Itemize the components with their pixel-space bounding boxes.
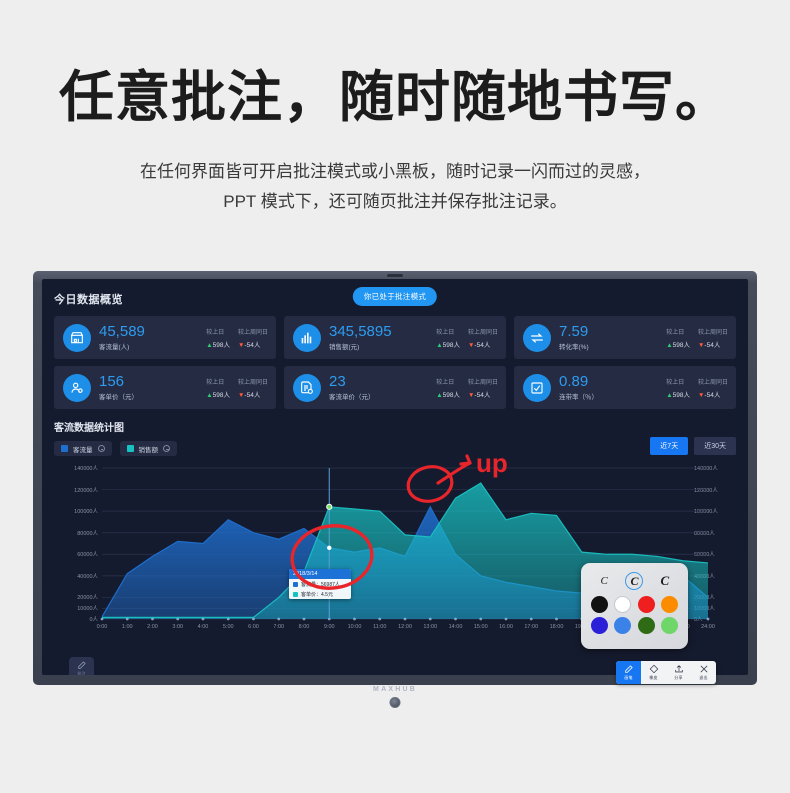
delta-up-value: ▲598人	[666, 389, 690, 399]
stat-label: 客单价（元）	[99, 391, 138, 401]
x-tick-4: 4:00	[198, 624, 209, 630]
delta-down-value: ▼-54人	[238, 389, 268, 399]
legend-item-sales[interactable]: 销售额	[120, 441, 178, 456]
x-tick-15: 15:00	[474, 624, 488, 630]
delta-vs-lastweek: 较上周同日 ▼-54人	[468, 327, 498, 349]
stat-value: 156	[99, 374, 138, 390]
chart-legend: 客流量 销售额	[54, 441, 736, 456]
delta-down-value: ▼-54人	[468, 389, 498, 399]
stat-card[interactable]: 0.89 连带率（％） 较上日 ▲598人 较上周同日 ▼-54人	[514, 366, 736, 409]
color-picker-panel[interactable]: C C C	[581, 563, 688, 649]
x-tick-2: 2:00	[147, 624, 158, 630]
user-badge-icon	[63, 374, 91, 402]
delta-head: 较上日	[206, 327, 230, 336]
pen-size-medium[interactable]: C	[625, 572, 643, 590]
stat-deltas: 较上日 ▲598人 较上周同日 ▼-54人	[430, 327, 498, 349]
tool-eraser-label: 橡皮	[649, 675, 657, 681]
exchange-icon	[523, 324, 551, 352]
legend-swatch	[127, 445, 134, 452]
annotation-toolbar: 画笔 橡皮 分享 退出	[616, 661, 716, 684]
stat-deltas: 较上日 ▲598人 较上周同日 ▼-54人	[660, 377, 728, 399]
stat-label: 销售额(元)	[329, 341, 392, 351]
delta-head: 较上日	[666, 377, 690, 386]
stat-label: 连带率（％）	[559, 391, 598, 401]
eye-icon[interactable]	[98, 445, 105, 452]
delta-head: 较上日	[206, 377, 230, 386]
color-swatch-3[interactable]	[661, 596, 678, 613]
stat-card[interactable]: 345,5895 销售额(元) 较上日 ▲598人 较上周同日 ▼-54人	[284, 316, 506, 359]
stat-value: 45,589	[99, 324, 145, 340]
color-swatch-grid	[589, 596, 680, 634]
store-chart-icon	[63, 324, 91, 352]
x-tick-16: 16:00	[499, 624, 513, 630]
pen-icon	[624, 664, 634, 674]
range-button-30d[interactable]: 近30天	[694, 437, 736, 455]
stat-deltas: 较上日 ▲598人 较上周同日 ▼-54人	[200, 327, 268, 349]
hero-subcopy-line-2: PPT 模式下，还可随页批注并保存批注记录。	[0, 187, 790, 217]
tool-share-label: 分享	[674, 675, 682, 681]
delta-vs-lastweek: 较上周同日 ▼-54人	[238, 377, 268, 399]
tool-close-label: 退出	[699, 675, 707, 681]
x-tick-17: 17:00	[524, 624, 538, 630]
delta-value-text: -54人	[244, 392, 260, 399]
pen-size-thin[interactable]: C	[595, 572, 613, 590]
delta-up-value: ▲598人	[436, 389, 460, 399]
tooltip-text: 客流量：56987人	[301, 581, 340, 588]
delta-vs-yesterday: 较上日 ▲598人	[206, 377, 230, 399]
legend-label: 客流量	[73, 444, 93, 454]
x-tick-9: 9:00	[324, 624, 335, 630]
stat-card[interactable]: 7.59 转化率(%) 较上日 ▲598人 较上周同日 ▼-54人	[514, 316, 736, 359]
delta-up-value: ▲598人	[436, 339, 460, 349]
legend-label: 销售额	[139, 444, 159, 454]
delta-down-value: ▼-54人	[698, 389, 728, 399]
tool-share[interactable]: 分享	[666, 661, 691, 684]
stat-card-grid: 45,589 客流量(人) 较上日 ▲598人 较上周同日 ▼-54人	[54, 316, 736, 409]
delta-vs-yesterday: 较上日 ▲598人	[666, 327, 690, 349]
stat-label: 客流量(人)	[99, 341, 145, 351]
chart-tooltip: 2018/3/14 客流量：56987人 客单价：4.5元	[289, 569, 351, 599]
check-square-icon	[523, 374, 551, 402]
pen-size-row: C C C	[589, 570, 680, 592]
tooltip-row: 客流量：56987人	[289, 579, 351, 589]
color-swatch-6[interactable]	[638, 617, 655, 634]
x-tick-24: 24:00	[701, 624, 715, 630]
color-swatch-5[interactable]	[614, 617, 631, 634]
delta-vs-lastweek: 较上周同日 ▼-54人	[698, 327, 728, 349]
x-tick-12: 12:00	[398, 624, 412, 630]
x-tick-7: 7:00	[273, 624, 284, 630]
delta-value-text: -54人	[474, 342, 490, 349]
delta-value-text: 598人	[213, 342, 230, 349]
x-tick-0: 0:00	[97, 624, 108, 630]
delta-value-text: -54人	[704, 392, 720, 399]
eye-icon[interactable]	[163, 445, 170, 452]
x-tick-14: 14:00	[449, 624, 463, 630]
delta-vs-yesterday: 较上日 ▲598人	[206, 327, 230, 349]
delta-value-text: 598人	[443, 342, 460, 349]
x-tick-3: 3:00	[172, 624, 183, 630]
stat-deltas: 较上日 ▲598人 较上周同日 ▼-54人	[200, 377, 268, 399]
delta-vs-yesterday: 较上日 ▲598人	[666, 377, 690, 399]
delta-head: 较上周同日	[238, 377, 268, 386]
delta-head: 较上周同日	[238, 327, 268, 336]
delta-down-value: ▼-54人	[238, 339, 268, 349]
document-icon	[293, 374, 321, 402]
delta-head: 较上周同日	[698, 327, 728, 336]
delta-vs-yesterday: 较上日 ▲598人	[436, 377, 460, 399]
delta-up-value: ▲598人	[206, 339, 230, 349]
pen-size-thick[interactable]: C	[656, 572, 674, 590]
color-swatch-7[interactable]	[661, 617, 678, 634]
tool-eraser[interactable]: 橡皮	[641, 661, 666, 684]
hero-section: 任意批注，随时随地书写。 在任何界面皆可开启批注模式或小黑板，随时记录一闪而过的…	[0, 0, 790, 217]
tooltip-date: 2018/3/14	[289, 569, 351, 579]
delta-head: 较上周同日	[468, 327, 498, 336]
hero-subcopy: 在任何界面皆可开启批注模式或小黑板，随时记录一闪而过的灵感， PPT 模式下，还…	[0, 157, 790, 217]
x-tick-11: 11:00	[373, 624, 386, 630]
eraser-icon	[649, 664, 659, 674]
share-icon	[674, 664, 684, 674]
page-title: 任意批注，随时随地书写。	[0, 66, 790, 129]
x-tick-8: 8:00	[299, 624, 310, 630]
tooltip-row: 客单价：4.5元	[289, 589, 351, 599]
delta-value-text: -54人	[474, 392, 490, 399]
delta-value-text: 598人	[213, 392, 230, 399]
brand-logo: MAXHUB	[373, 686, 417, 693]
stat-value: 345,5895	[329, 324, 392, 340]
stat-deltas: 较上日 ▲598人 较上周同日 ▼-54人	[430, 377, 498, 399]
x-tick-13: 13:00	[423, 624, 437, 630]
stat-value: 7.59	[559, 324, 589, 340]
delta-vs-lastweek: 较上周同日 ▼-54人	[468, 377, 498, 399]
color-swatch-1[interactable]	[614, 596, 631, 613]
annotation-mode-badge: 你已处于批注模式	[353, 287, 437, 306]
delta-head: 较上周同日	[468, 377, 498, 386]
x-tick-1: 1:00	[122, 624, 133, 630]
hero-subcopy-line-1: 在任何界面皆可开启批注模式或小黑板，随时记录一闪而过的灵感，	[0, 157, 790, 187]
pen-icon	[77, 660, 87, 670]
close-icon	[699, 664, 709, 674]
stat-label: 客流单价（元）	[329, 391, 375, 401]
floating-annotate-button[interactable]: 批注	[69, 657, 94, 675]
range-button-group: 近7天 近30天	[650, 437, 736, 455]
floating-annotate-label: 批注	[77, 671, 85, 676]
delta-value-text: -54人	[704, 342, 720, 349]
range-button-7d[interactable]: 近7天	[650, 437, 688, 455]
delta-up-value: ▲598人	[206, 389, 230, 399]
delta-value-text: 598人	[673, 342, 690, 349]
stat-card[interactable]: 156 客单价（元） 较上日 ▲598人 较上周同日 ▼-54人	[54, 366, 276, 409]
stat-deltas: 较上日 ▲598人 较上周同日 ▼-54人	[660, 327, 728, 349]
stat-card[interactable]: 23 客流单价（元） 较上日 ▲598人 较上周同日 ▼-54人	[284, 366, 506, 409]
x-tick-10: 10:00	[348, 624, 362, 630]
delta-head: 较上周同日	[698, 377, 728, 386]
x-tick-6: 6:00	[248, 624, 259, 630]
delta-head: 较上日	[666, 327, 690, 336]
tooltip-swatch	[293, 592, 298, 597]
delta-down-value: ▼-54人	[468, 339, 498, 349]
tooltip-text: 客单价：4.5元	[301, 591, 333, 598]
color-swatch-2[interactable]	[638, 596, 655, 613]
delta-vs-lastweek: 较上周同日 ▼-54人	[238, 327, 268, 349]
camera-icon	[387, 274, 403, 277]
delta-value-text: -54人	[244, 342, 260, 349]
delta-vs-yesterday: 较上日 ▲598人	[436, 327, 460, 349]
delta-value-text: 598人	[673, 392, 690, 399]
delta-vs-lastweek: 较上周同日 ▼-54人	[698, 377, 728, 399]
stat-value: 23	[329, 374, 375, 390]
x-tick-5: 5:00	[223, 624, 234, 630]
color-swatch-4[interactable]	[591, 617, 608, 634]
delta-up-value: ▲598人	[666, 339, 690, 349]
tool-pen-label: 画笔	[624, 675, 632, 681]
x-tick-18: 18:00	[550, 624, 564, 630]
color-swatch-0[interactable]	[591, 596, 608, 613]
delta-down-value: ▼-54人	[698, 339, 728, 349]
delta-head: 较上日	[436, 377, 460, 386]
ir-sensor-icon	[390, 697, 401, 708]
tooltip-swatch	[293, 582, 298, 587]
stat-value: 0.89	[559, 374, 598, 390]
tool-pen[interactable]: 画笔	[616, 661, 641, 684]
chart-title: 客流数据统计图	[54, 419, 736, 434]
delta-head: 较上日	[436, 327, 460, 336]
stat-label: 转化率(%)	[559, 341, 589, 351]
legend-item-traffic[interactable]: 客流量	[54, 441, 112, 456]
stat-card[interactable]: 45,589 客流量(人) 较上日 ▲598人 较上周同日 ▼-54人	[54, 316, 276, 359]
bar-chart-icon	[293, 324, 321, 352]
delta-value-text: 598人	[443, 392, 460, 399]
legend-swatch	[61, 445, 68, 452]
tool-close[interactable]: 退出	[691, 661, 716, 684]
